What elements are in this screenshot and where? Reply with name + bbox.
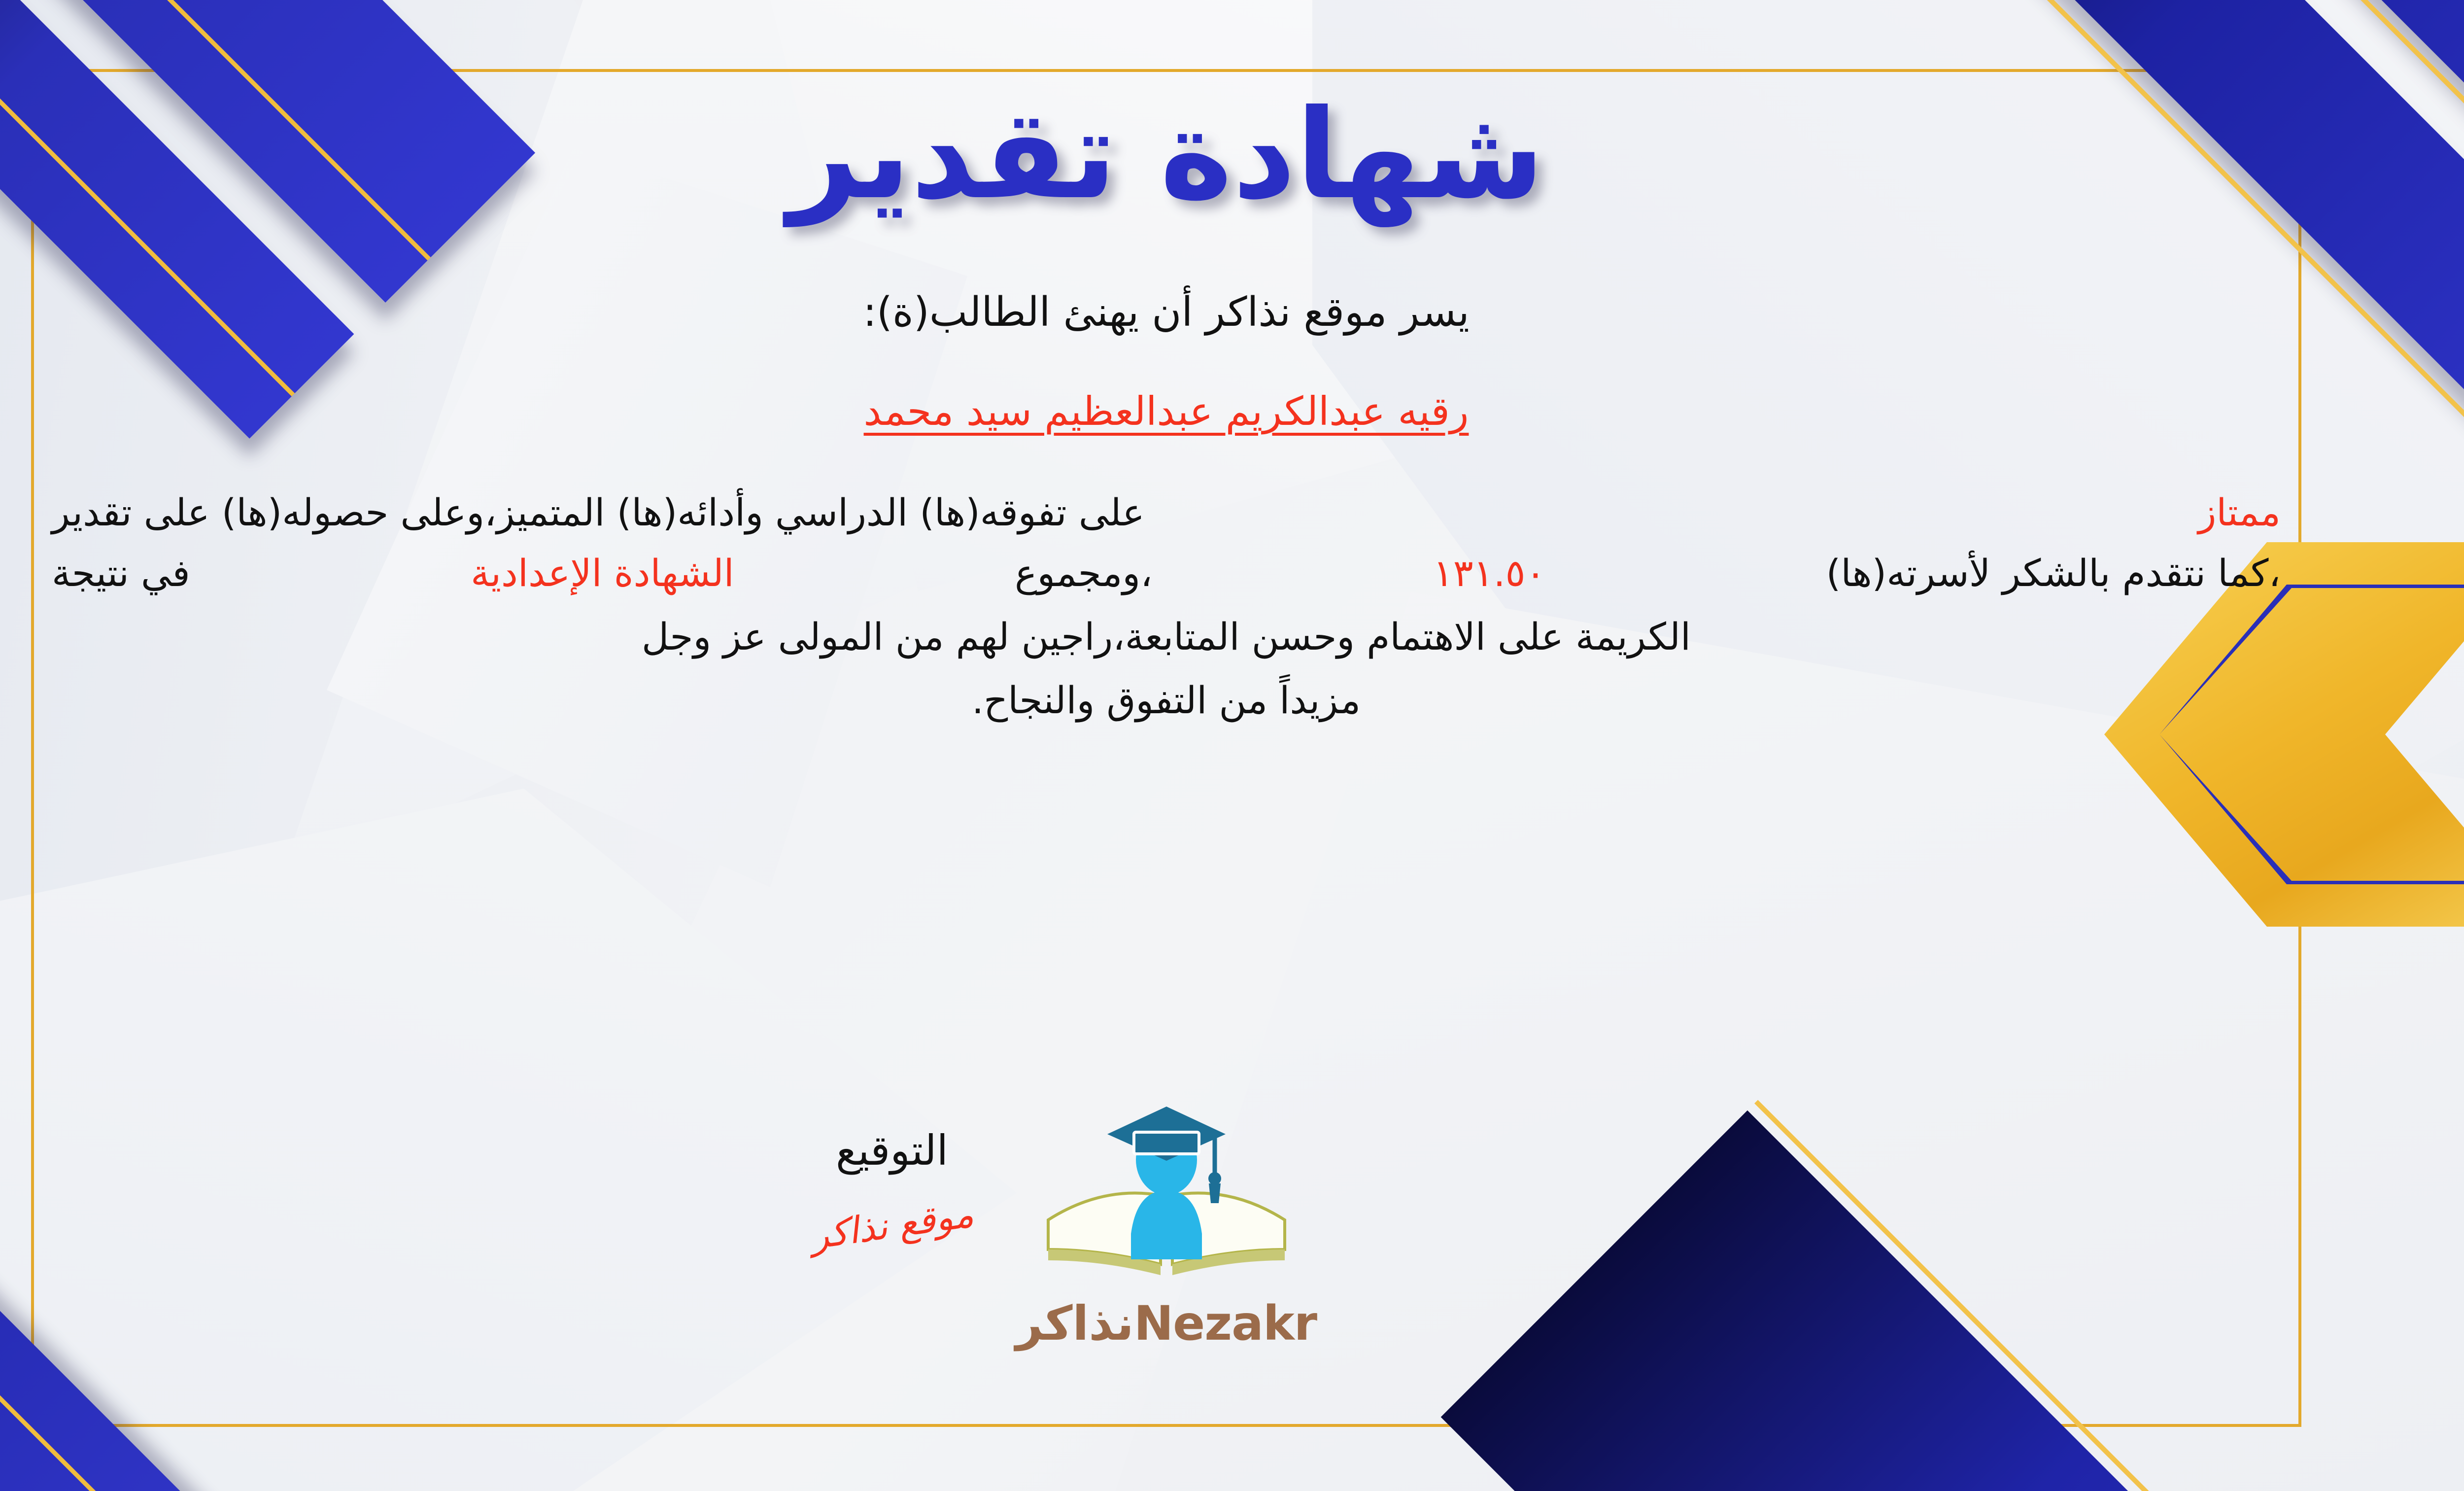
total-value: ١٣١.٥٠ (1433, 543, 1545, 603)
thanks-text: ،كما نتقدم بالشكر لأسرته(ها) (1826, 543, 2281, 603)
achievement-line: ممتاز على تفوقه(ها) الدراسي وأدائه(ها) ا… (46, 482, 2287, 543)
exam-name: الشهادة الإعدادية (471, 543, 734, 603)
certificate-body: يسر موقع نذاكر أن يهنئ الطالب(ة): رقيه ع… (46, 280, 2287, 731)
grade-value: ممتاز (2198, 482, 2281, 543)
logo-wordmark: Nezakrنذاكر (979, 1296, 1354, 1351)
logo-text-en: Nezakr (1134, 1296, 1317, 1351)
wish-line-1: الكريمة على الاهتمام وحسن المتابعة،راجين… (46, 606, 2287, 667)
certificate-canvas: شهادة تقدير يسر موقع نذاكر أن يهنئ الطال… (0, 0, 2464, 1491)
signature-mark: موقع نذاكر (808, 1193, 976, 1257)
student-name: رقيه عبدالكريم عبدالعظيم سيد محمد (46, 380, 2287, 444)
total-label: ،ومجموع (1015, 543, 1153, 603)
certificate-footer: التوقيع موقع نذاكر (46, 1097, 2287, 1412)
certificate-title: شهادة تقدير (46, 84, 2287, 226)
certificate-content: شهادة تقدير يسر موقع نذاكر أن يهنئ الطال… (46, 69, 2287, 1422)
result-line: ،كما نتقدم بالشكر لأسرته(ها) ١٣١.٥٠ ،ومج… (46, 543, 2287, 603)
logo-text-ar: نذاكر (1016, 1296, 1134, 1351)
achievement-text: على تفوقه(ها) الدراسي وأدائه(ها) المتميز… (52, 482, 1145, 543)
wish-line-2: مزيداً من التفوق والنجاح. (46, 670, 2287, 730)
brand-logo: Nezakrنذاكر (979, 1102, 1354, 1351)
intro-line: يسر موقع نذاكر أن يهنئ الطالب(ة): (46, 280, 2287, 346)
graduate-book-icon (1028, 1102, 1304, 1294)
graduate-book-svg (1028, 1102, 1304, 1294)
result-prefix: في نتيجة (52, 543, 190, 603)
